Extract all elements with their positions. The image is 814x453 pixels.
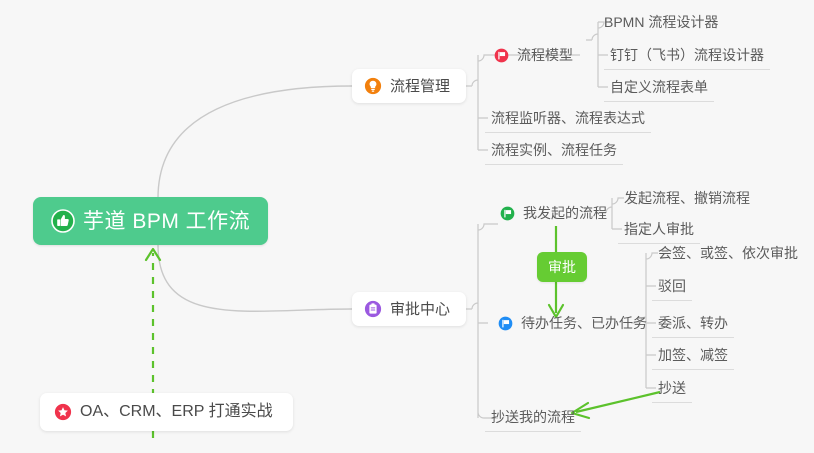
connector-root-to-process-management xyxy=(158,86,352,198)
leaf-start-cancel[interactable]: 发起流程、撤销流程 xyxy=(618,186,756,212)
leaf-delegate-transfer[interactable]: 委派、转办 xyxy=(652,312,734,338)
leaf-custom-process-form[interactable]: 自定义流程表单 xyxy=(604,76,714,102)
branch-label-approval-center: 审批中心 xyxy=(390,302,450,317)
leaf-label-multi-sign: 会签、或签、依次审批 xyxy=(658,246,798,260)
connector-root-to-approval-center xyxy=(158,245,352,311)
lightbulb-icon xyxy=(364,77,382,95)
node-my-initiated[interactable]: 我发起的流程 xyxy=(496,200,611,226)
flag-green-icon xyxy=(500,206,515,221)
branch-node-approval-center[interactable]: 审批中心 xyxy=(352,292,466,326)
node-process-model[interactable]: 流程模型 xyxy=(490,42,577,68)
thumbs-up-icon xyxy=(51,209,75,233)
leaf-label-bpmn-designer: BPMN 流程设计器 xyxy=(604,15,718,29)
arrow-callout-to-root-head xyxy=(146,249,160,260)
leaf-dingtalk-feishu-designer[interactable]: 钉钉（飞书）流程设计器 xyxy=(604,44,770,70)
leaf-listener-expression[interactable]: 流程监听器、流程表达式 xyxy=(485,107,651,133)
leaf-label-reject: 驳回 xyxy=(658,279,686,293)
leaf-label-dingtalk-feishu-designer: 钉钉（飞书）流程设计器 xyxy=(610,48,764,62)
clipboard-icon xyxy=(364,300,382,318)
leaf-label-start-cancel: 发起流程、撤销流程 xyxy=(624,191,750,205)
callout-node-label: OA、CRM、ERP 打通实战 xyxy=(80,404,273,420)
root-node[interactable]: 芋道 BPM 工作流 xyxy=(33,197,268,245)
leaf-bpmn-designer[interactable]: BPMN 流程设计器 xyxy=(598,10,724,36)
approval-tag[interactable]: 审批 xyxy=(537,252,587,282)
mindmap-canvas: 芋道 BPM 工作流 OA、CRM、ERP 打通实战 流程管理 xyxy=(0,0,814,453)
approval-tag-label: 审批 xyxy=(548,260,576,274)
branch-node-process-management[interactable]: 流程管理 xyxy=(352,69,466,103)
flag-blue-icon xyxy=(498,316,513,331)
leaf-cc[interactable]: 抄送 xyxy=(652,377,692,403)
leaf-instance-task[interactable]: 流程实例、流程任务 xyxy=(485,139,623,165)
leaf-label-custom-process-form: 自定义流程表单 xyxy=(610,80,708,94)
root-node-label: 芋道 BPM 工作流 xyxy=(83,211,250,232)
connector-approval-center-bracket xyxy=(461,224,498,418)
leaf-label-add-remove-sign: 加签、减签 xyxy=(658,348,728,362)
node-todo-done[interactable]: 待办任务、已办任务 xyxy=(494,310,651,336)
node-label-process-model: 流程模型 xyxy=(517,48,573,62)
leaf-label-assignee-approval: 指定人审批 xyxy=(624,222,694,236)
arrow-cc-to-my-flow xyxy=(576,392,660,412)
callout-node[interactable]: OA、CRM、ERP 打通实战 xyxy=(40,393,293,431)
leaf-cc-to-me[interactable]: 抄送我的流程 xyxy=(485,406,581,432)
branch-label-process-management: 流程管理 xyxy=(390,79,450,94)
leaf-label-listener-expression: 流程监听器、流程表达式 xyxy=(491,111,645,125)
leaf-label-cc-to-me: 抄送我的流程 xyxy=(491,410,575,424)
connector-process-management-bracket xyxy=(461,55,580,150)
leaf-multi-sign[interactable]: 会签、或签、依次审批 xyxy=(652,241,804,267)
leaf-reject[interactable]: 驳回 xyxy=(652,275,692,301)
flag-red-icon xyxy=(494,48,509,63)
node-label-my-initiated: 我发起的流程 xyxy=(523,206,607,220)
leaf-label-delegate-transfer: 委派、转办 xyxy=(658,316,728,330)
star-icon xyxy=(54,403,72,421)
leaf-label-instance-task: 流程实例、流程任务 xyxy=(491,143,617,157)
leaf-add-remove-sign[interactable]: 加签、减签 xyxy=(652,344,734,370)
leaf-label-cc: 抄送 xyxy=(658,381,686,395)
node-label-todo-done: 待办任务、已办任务 xyxy=(521,316,647,330)
